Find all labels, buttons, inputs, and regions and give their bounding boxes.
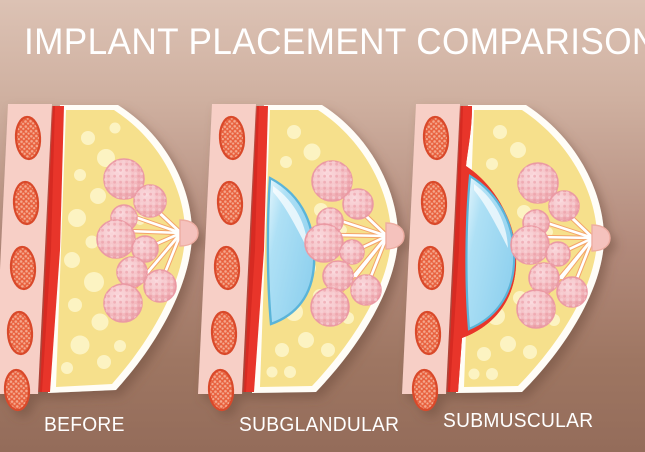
page-title: IMPLANT PLACEMENT COMPARISON bbox=[24, 22, 594, 62]
nipple bbox=[386, 223, 404, 249]
rib bbox=[208, 369, 234, 410]
diagram-panel-submuscular bbox=[428, 100, 638, 400]
anatomy-group bbox=[198, 104, 404, 411]
rib bbox=[4, 369, 30, 410]
caption-before: BEFORE bbox=[44, 414, 125, 436]
rib bbox=[412, 369, 438, 410]
diagram-panel-before bbox=[20, 100, 230, 400]
poster-canvas: IMPLANT PLACEMENT COMPARISON bbox=[0, 0, 645, 452]
nipple bbox=[592, 225, 610, 251]
diagram-panel-subglandular bbox=[224, 100, 434, 400]
nipple bbox=[180, 220, 198, 246]
caption-submuscular: SUBMUSCULAR bbox=[443, 410, 593, 432]
anatomy-group bbox=[402, 104, 610, 411]
caption-subglandular: SUBGLANDULAR bbox=[239, 414, 399, 436]
anatomy-group bbox=[0, 104, 198, 411]
